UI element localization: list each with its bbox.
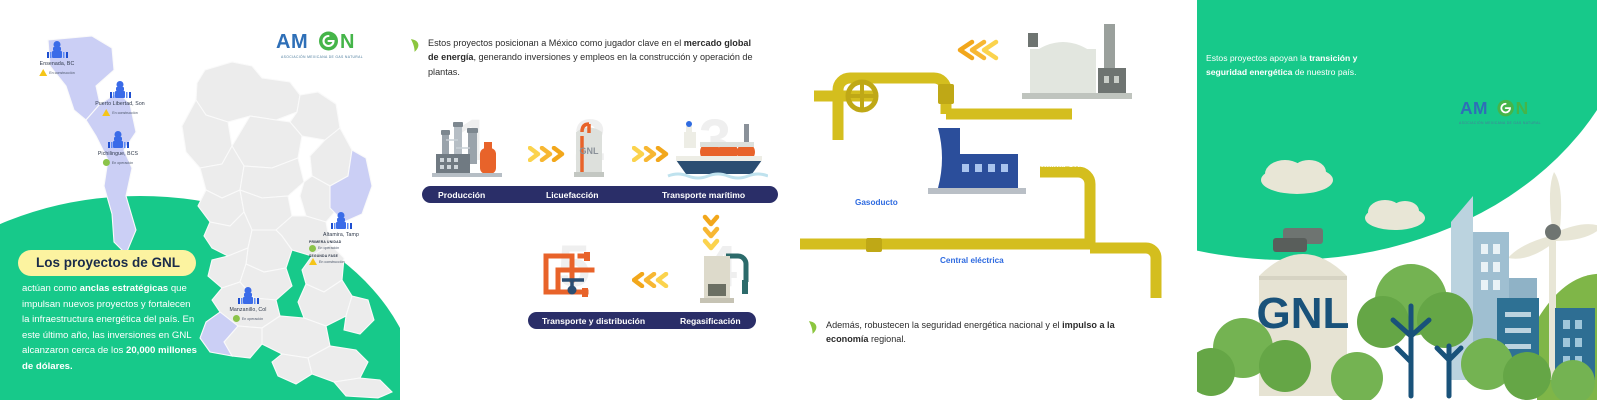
pipe-joint [938,84,954,104]
terminal-gnl-icon [1022,24,1132,99]
pipeline-label-terminal-gnl: Terminal GNL [1032,160,1085,169]
leaf-bullet-icon [808,320,819,335]
pipeline-note: Además, robustecen la seguridad energéti… [808,318,1148,347]
chevron-left-icon [632,272,672,288]
operation-status-icon [233,315,240,322]
step-label: Producción [438,190,546,200]
svg-text:A: A [1460,98,1473,118]
operation-status-icon [309,245,316,252]
amgn-logo-secondary: A M N ASOCIACIÓN MEXICANA DE GAS NATURAL [1459,98,1541,125]
flow-arrow-left [960,42,996,58]
map-pin-status: En operación [233,315,263,322]
construction-warning-icon [102,109,110,116]
map-pin-status: En construcción [102,109,138,116]
pipeline-label-gasoducto: Gasoducto [855,198,898,207]
pipeline-panel: Gasoducto Central eléctrica Terminal GNL… [800,0,1200,400]
city-headline-paragraph: Estos proyectos apoyan la transición y s… [1206,52,1398,80]
pipeline-valve-icon [522,244,626,308]
flow-arrow-1 [528,146,568,162]
gnl-projects-callout: Los proyectos de GNL actúan como anclas … [18,250,200,374]
power-plant-icon [928,128,1026,194]
amgn-logo-tagline: ASOCIACIÓN MEXICANA DE GAS NATURAL [1459,121,1541,125]
lng-plant-pin-icon [327,212,355,230]
step-label: Licuefacción [546,190,662,200]
flow-arrow-3 [632,272,672,288]
process-row-2-labels: Transporte y distribución Regasificación [528,312,756,329]
phase-label: PRIMERA UNIDAD [309,240,373,244]
amgn-logo-mark: A M N [1460,98,1540,120]
process-row-1-labels: Producción Licuefacción Transporte marít… [422,186,778,203]
lng-carrier-ship-icon [662,118,768,182]
svg-text:A: A [276,31,290,53]
process-lead-text: Estos proyectos posicionan a México como… [410,36,760,79]
step-label: Regasificación [680,316,741,326]
callout-body: actúan como anclas estratégicas que impu… [18,281,200,374]
process-step-transporte-maritimo[interactable]: 3 [662,118,768,187]
chevron-right-icon [528,146,568,162]
svg-text:N: N [340,31,354,53]
svg-text:M: M [1473,98,1487,118]
svg-text:GNL: GNL [580,146,600,156]
process-step-regasificacion[interactable]: 4 [678,244,764,313]
map-pin-label: Pichilingue, BCS [98,151,138,157]
operation-status-icon [103,159,110,166]
callout-heading: Los proyectos de GNL [18,250,196,276]
lng-plant-pin-icon [104,131,132,149]
map-pin-label: Ensenada, BC [40,61,75,67]
amgn-logo-mark: A M N [276,30,368,54]
refinery-icon [426,118,522,182]
gnl-tank-text: GNL [1257,289,1350,338]
process-lead-paragraph: Estos proyectos posicionan a México como… [428,36,760,79]
map-pin-label: Puerto Libertad, Son [95,101,145,107]
lng-plant-pin-icon [234,287,262,305]
process-step-transporte-distribucion[interactable]: 5 [522,244,626,313]
cloud-icon [1261,160,1333,194]
map-pin-label: Manzanillo, Col [230,307,267,313]
step-label: Transporte marítimo [662,190,745,200]
pipeline-note-paragraph: Además, robustecen la seguridad energéti… [826,318,1148,347]
lng-plant-pin-icon [106,81,134,99]
phase-label: SEGUNDA FASE [309,254,373,258]
cloud-icon [1365,200,1425,230]
step-label: Transporte y distribución [542,316,680,326]
amgn-logo-tagline: ASOCIACIÓN MEXICANA DE GAS NATURAL [281,55,363,59]
city-panel: Estos proyectos apoyan la transición y s… [1197,0,1597,400]
pipe-joint [866,238,882,252]
svg-text:M: M [291,31,308,53]
amgn-logo: A M N ASOCIACIÓN MEXICANA DE GAS NATURAL [276,30,368,59]
map-pin-label: Altamira, Tamp [323,232,359,238]
chevron-right-icon [632,146,672,162]
infographic-canvas: A M N ASOCIACIÓN MEXICANA DE GAS NATURAL… [0,0,1597,400]
process-panel: Estos proyectos posicionan a México como… [400,0,800,400]
flow-arrow-2 [632,146,672,162]
process-row-2: 5 [400,244,800,334]
construction-warning-icon [309,258,317,265]
altamira-phase-list: PRIMERA UNIDAD En operación SEGUNDA FASE… [309,240,373,265]
process-step-produccion[interactable]: 1 [426,118,522,187]
leaf-bullet-icon [410,38,421,53]
map-pin-status: En operación [103,159,133,166]
construction-warning-icon [39,69,47,76]
process-row-1: 1 [400,118,800,208]
leaf-bullet-icon [1197,54,1199,69]
pipeline-label-central-electrica: Central eléctrica [940,256,1004,265]
lng-plant-pin-icon [43,41,71,59]
map-panel: A M N ASOCIACIÓN MEXICANA DE GAS NATURAL… [0,0,400,400]
svg-text:N: N [1516,98,1529,118]
map-pin-status: En construcción [39,69,75,76]
regasification-unit-icon [678,244,764,308]
phase-status: En construcción [309,258,373,265]
city-headline: Estos proyectos apoyan la transición y s… [1197,52,1398,80]
phase-status: En operación [309,245,373,252]
